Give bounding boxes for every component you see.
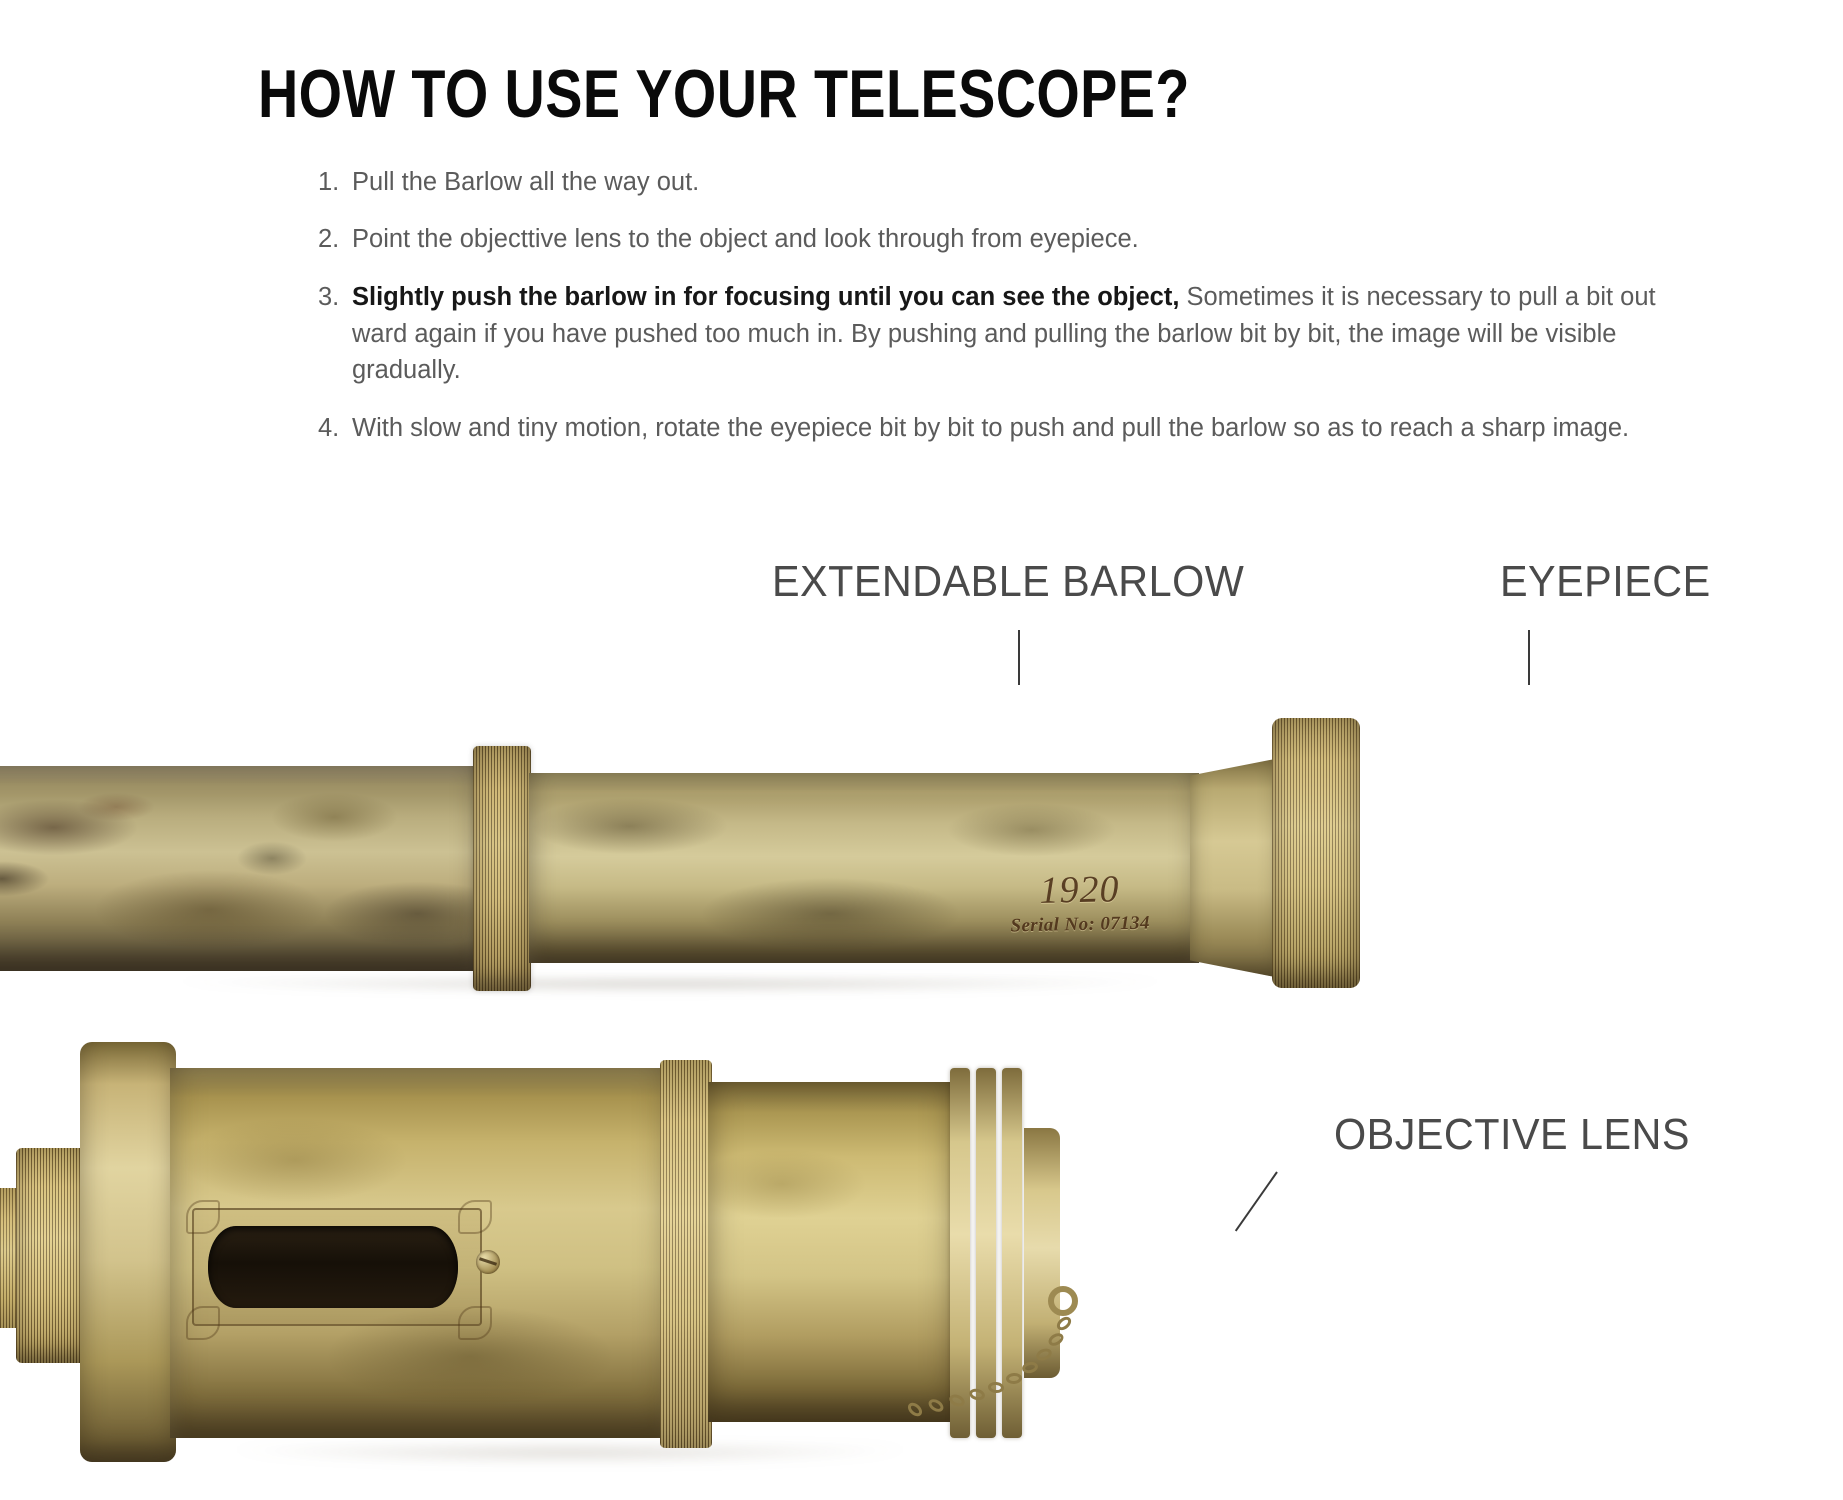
callout-label-extendable-barlow: EXTENDABLE BARLOW bbox=[772, 557, 1244, 607]
plate-viewing-slot bbox=[208, 1226, 458, 1308]
telescope-shadow bbox=[90, 1448, 1050, 1488]
leader-line-objective bbox=[1235, 1171, 1278, 1231]
instruction-item-1: 1. Pull the Barlow all the way out. bbox=[318, 164, 1698, 201]
telescope-flange-disc bbox=[80, 1042, 176, 1462]
instruction-item-3: 3. Slightly push the barlow in for focus… bbox=[318, 279, 1698, 389]
instruction-number: 1. bbox=[318, 164, 352, 201]
draw-tube-knurled-ring bbox=[16, 1148, 86, 1363]
objective-lens-barrel bbox=[708, 1082, 954, 1422]
plate-scroll-ornament-icon bbox=[186, 1306, 220, 1340]
leader-line-barlow bbox=[1018, 630, 1020, 685]
instruction-item-2: 2. Point the objecttive lens to the obje… bbox=[318, 221, 1698, 258]
leader-line-eyepiece bbox=[1528, 630, 1530, 685]
engraving-serial: Serial No: 07134 bbox=[1010, 913, 1150, 938]
body-knurled-ring bbox=[660, 1060, 712, 1448]
instruction-text: With slow and tiny motion, rotate the ey… bbox=[352, 410, 1698, 447]
instructions-list: 1. Pull the Barlow all the way out. 2. P… bbox=[278, 164, 1698, 468]
instruction-number: 4. bbox=[318, 410, 352, 447]
instruction-text: Pull the Barlow all the way out. bbox=[352, 164, 1698, 201]
page-title: HOW TO USE YOUR TELESCOPE? bbox=[258, 54, 1190, 134]
instruction-text: Point the objecttive lens to the object … bbox=[352, 221, 1698, 258]
plate-scroll-ornament-icon bbox=[186, 1200, 220, 1234]
telescope-diagram: EXTENDABLE BARLOW EYEPIECE OBJECTIVE LEN… bbox=[0, 560, 1843, 1500]
telescope-photo-top: 1920 Serial No: 07134 bbox=[0, 728, 1540, 1013]
objective-end-ring bbox=[950, 1068, 970, 1438]
telescope-photo-bottom bbox=[0, 1018, 1230, 1498]
eyepiece-shoulder bbox=[1190, 758, 1280, 978]
instruction-text: Slightly push the barlow in for focusing… bbox=[352, 279, 1698, 389]
engraving-year: 1920 bbox=[1009, 867, 1149, 914]
telescope-engraving: 1920 Serial No: 07134 bbox=[1009, 867, 1150, 938]
instruction-number: 3. bbox=[318, 279, 352, 316]
telescope-main-tube bbox=[0, 766, 480, 971]
telescope-shadow bbox=[0, 980, 1380, 1014]
cap-chain-loop-icon bbox=[1048, 1286, 1078, 1316]
instruction-item-4: 4. With slow and tiny motion, rotate the… bbox=[318, 410, 1698, 447]
callout-label-objective-lens: OBJECTIVE LENS bbox=[1334, 1110, 1690, 1160]
plate-scroll-ornament-icon bbox=[458, 1200, 492, 1234]
eyepiece-end-face bbox=[1328, 730, 1362, 978]
instruction-emphasis: Slightly push the barlow in for focusing… bbox=[352, 283, 1179, 311]
barlow-knurled-ring bbox=[473, 746, 531, 991]
plate-screw-icon bbox=[476, 1250, 500, 1274]
plate-scroll-ornament-icon bbox=[458, 1306, 492, 1340]
instruction-number: 2. bbox=[318, 221, 352, 258]
callout-label-eyepiece: EYEPIECE bbox=[1500, 557, 1711, 607]
